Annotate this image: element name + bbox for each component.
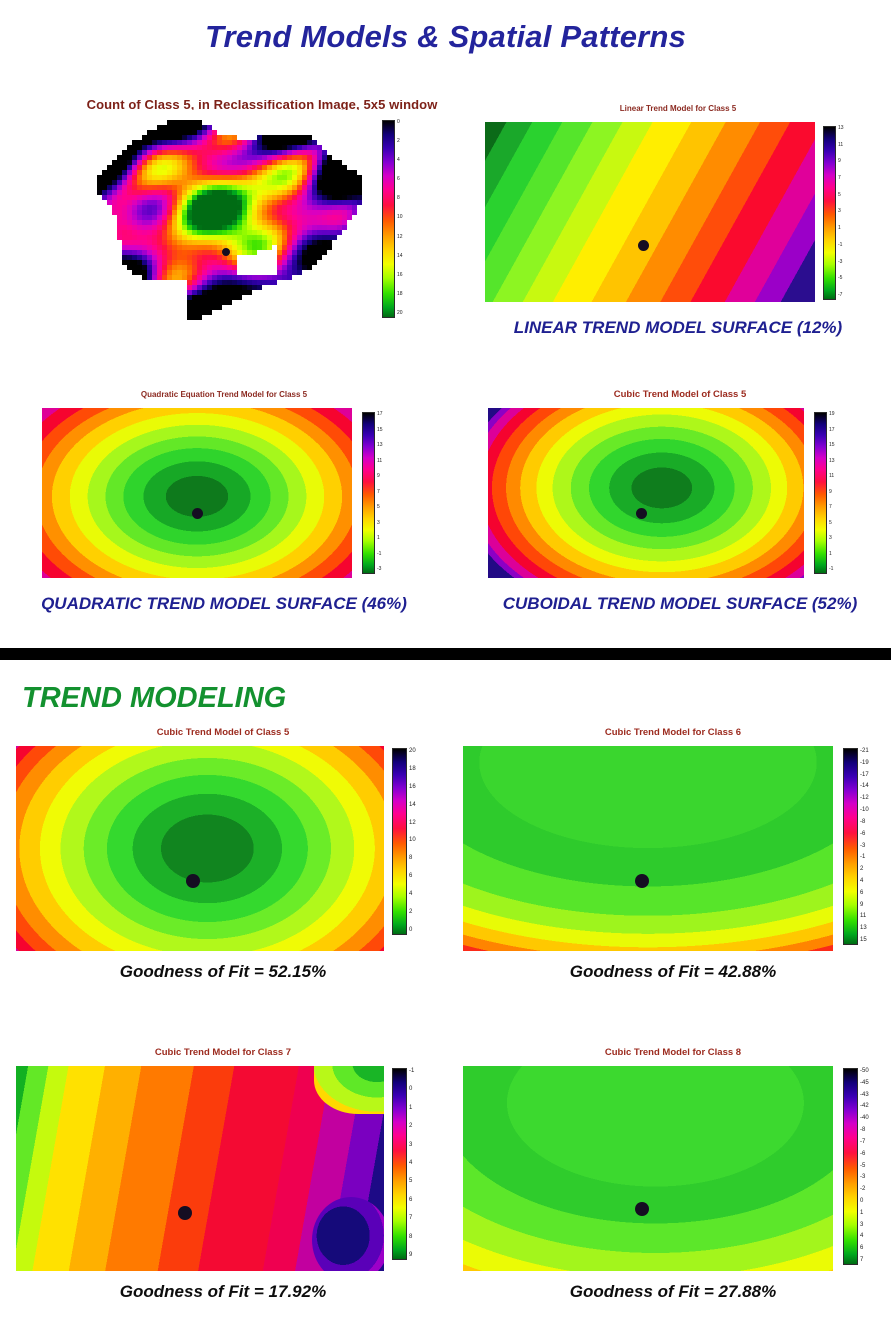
- colorbar-ticks-count-class5: 02468101214161820: [395, 120, 403, 316]
- panel-cubic-class5: Cubic Trend Model of Class 5 20181614121…: [8, 728, 438, 982]
- trend-surface-cubic-class6: [463, 746, 833, 951]
- panel-title-count-class5: Count of Class 5, in Reclassification Im…: [52, 100, 472, 110]
- surface-linear-trend: 131197531-1-3-5-7: [478, 116, 878, 311]
- colorbar-tick: 6: [409, 1197, 414, 1203]
- colorbar-tick: 5: [829, 521, 835, 526]
- colorbar-tick: 4: [860, 878, 869, 884]
- colorbar-tick: 5: [838, 193, 844, 198]
- colorbar-tick: 0: [397, 120, 403, 125]
- surface-quadratic-trend: 1715131197531-1-3: [14, 402, 434, 587]
- colorbar-tick: -12: [860, 795, 869, 801]
- colorbar-linear-trend: 131197531-1-3-5-7: [823, 126, 844, 298]
- colorbar-ticks-cubic-class6: -21-19-17-14-12-10-8-6-3-12469111315: [858, 748, 869, 943]
- colorbar-tick: 16: [397, 273, 403, 278]
- colorbar-tick: -2: [860, 1186, 869, 1192]
- slide-trend-models: Trend Models & Spatial Patterns Count of…: [0, 0, 891, 648]
- colorbar-tick: -7: [860, 1139, 869, 1145]
- sample-point-marker: [635, 1202, 649, 1216]
- colorbar-tick: 15: [829, 443, 835, 448]
- colorbar-tick: 7: [838, 176, 844, 181]
- colorbar-ticks-cubic-class8: -50-45-43-42-40-8-7-6-5-3-2013467: [858, 1068, 869, 1263]
- section-title: TREND MODELING: [0, 660, 891, 715]
- colorbar-tick: 17: [377, 412, 383, 417]
- colorbar-tick: 1: [860, 1210, 869, 1216]
- colorbar-tick: -1: [377, 552, 383, 557]
- trend-surface-quadratic: [42, 408, 352, 578]
- colorbar-tick: 11: [829, 474, 835, 479]
- surface-high-lobe: [314, 1066, 384, 1114]
- colorbar-cuboidal-trend: 191715131197531-1: [814, 412, 835, 572]
- colorbar-ticks-quadratic-trend: 1715131197531-1-3: [375, 412, 383, 572]
- colorbar-tick: 10: [397, 215, 403, 220]
- panel-quadratic-trend: Quadratic Equation Trend Model for Class…: [14, 390, 434, 614]
- colorbar-tick: -21: [860, 748, 869, 754]
- colorbar-tick: 7: [377, 490, 383, 495]
- colorbar-tick: 3: [838, 209, 844, 214]
- colorbar-tick: 14: [397, 254, 403, 259]
- panel-title-cuboidal-trend: Cubic Trend Model of Class 5: [470, 390, 890, 400]
- colorbar-strip: [843, 748, 858, 945]
- caption-quadratic-trend: QUADRATIC TREND MODEL SURFACE (46%): [14, 594, 434, 614]
- trend-surface-linear: [485, 122, 815, 302]
- colorbar-cubic-class5: 20181614121086420: [392, 748, 416, 933]
- colorbar-tick: 15: [377, 428, 383, 433]
- colorbar-tick: -3: [838, 260, 844, 265]
- colorbar-tick: -8: [860, 819, 869, 825]
- surface-low-lobe: [312, 1197, 384, 1271]
- colorbar-tick: 1: [829, 552, 835, 557]
- colorbar-ticks-cubic-class5: 20181614121086420: [407, 748, 416, 933]
- colorbar-tick: 6: [409, 873, 416, 879]
- surface-cubic-class7: -10123456789: [8, 1060, 438, 1275]
- colorbar-cubic-class8: -50-45-43-42-40-8-7-6-5-3-2013467: [843, 1068, 869, 1263]
- colorbar-tick: 12: [397, 235, 403, 240]
- sample-point-marker: [635, 874, 649, 888]
- panel-title-linear-trend: Linear Trend Model for Class 5: [478, 104, 878, 114]
- colorbar-tick: 2: [409, 909, 416, 915]
- colorbar-tick: -40: [860, 1115, 869, 1121]
- colorbar-ticks-linear-trend: 131197531-1-3-5-7: [836, 126, 844, 298]
- colorbar-tick: 3: [829, 536, 835, 541]
- colorbar-tick: 14: [409, 802, 416, 808]
- panel-title-cubic-class6: Cubic Trend Model for Class 6: [455, 728, 891, 738]
- colorbar-tick: 6: [860, 1245, 869, 1251]
- colorbar-tick: 20: [409, 748, 416, 754]
- colorbar-tick: 13: [860, 925, 869, 931]
- colorbar-tick: -50: [860, 1068, 869, 1074]
- colorbar-tick: 16: [409, 784, 416, 790]
- colorbar-ticks-cubic-class7: -10123456789: [407, 1068, 414, 1258]
- colorbar-tick: 1: [838, 226, 844, 231]
- colorbar-tick: 0: [860, 1198, 869, 1204]
- surface-count-class5: 02468101214161820: [52, 112, 472, 322]
- colorbar-count-class5: 02468101214161820: [382, 120, 403, 316]
- colorbar-tick: 8: [409, 855, 416, 861]
- colorbar-tick: -1: [838, 243, 844, 248]
- panel-title-cubic-class5: Cubic Trend Model of Class 5: [8, 728, 438, 738]
- sample-point-marker: [192, 508, 203, 519]
- colorbar-strip: [392, 748, 407, 935]
- colorbar-tick: 11: [377, 459, 383, 464]
- colorbar-tick: 9: [377, 474, 383, 479]
- sample-point-marker: [186, 874, 200, 888]
- colorbar-tick: 9: [829, 490, 835, 495]
- colorbar-tick: -10: [860, 807, 869, 813]
- colorbar-tick: -1: [829, 567, 835, 572]
- caption-cuboidal-trend: CUBOIDAL TREND MODEL SURFACE (52%): [470, 594, 890, 614]
- colorbar-tick: 18: [397, 292, 403, 297]
- colorbar-tick: 8: [409, 1234, 414, 1240]
- colorbar-tick: -43: [860, 1092, 869, 1098]
- caption-cubic-class7: Goodness of Fit = 17.92%: [8, 1282, 438, 1302]
- page-title: Trend Models & Spatial Patterns: [0, 0, 891, 55]
- colorbar-tick: 9: [838, 159, 844, 164]
- colorbar-tick: 9: [860, 902, 869, 908]
- colorbar-tick: 19: [829, 412, 835, 417]
- caption-cubic-class5: Goodness of Fit = 52.15%: [8, 962, 438, 982]
- colorbar-tick: 11: [838, 143, 844, 148]
- trend-surface-cubic-class7: [16, 1066, 384, 1271]
- colorbar-tick: 1: [377, 536, 383, 541]
- colorbar-tick: 1: [409, 1105, 414, 1111]
- colorbar-tick: -6: [860, 1151, 869, 1157]
- colorbar-tick: -3: [860, 1174, 869, 1180]
- colorbar-tick: 2: [409, 1123, 414, 1129]
- colorbar-tick: -1: [409, 1068, 414, 1074]
- colorbar-tick: -3: [377, 567, 383, 572]
- colorbar-tick: -3: [860, 843, 869, 849]
- surface-cubic-class6: -21-19-17-14-12-10-8-6-3-12469111315: [455, 740, 891, 955]
- colorbar-tick: -7: [838, 293, 844, 298]
- sample-point-marker: [178, 1206, 192, 1220]
- colorbar-tick: 3: [409, 1142, 414, 1148]
- colorbar-tick: 10: [409, 837, 416, 843]
- raster-map-count-class5: [82, 120, 362, 320]
- slide-trend-modeling: TREND MODELING Cubic Trend Model of Clas…: [0, 660, 891, 1335]
- colorbar-tick: -5: [860, 1163, 869, 1169]
- panel-cubic-class6: Cubic Trend Model for Class 6 -21-19-17-…: [455, 728, 891, 982]
- colorbar-cubic-class6: -21-19-17-14-12-10-8-6-3-12469111315: [843, 748, 869, 943]
- colorbar-tick: 0: [409, 927, 416, 933]
- colorbar-tick: -6: [860, 831, 869, 837]
- colorbar-tick: -5: [838, 276, 844, 281]
- panel-count-class5: Count of Class 5, in Reclassification Im…: [52, 100, 472, 322]
- colorbar-tick: 17: [829, 428, 835, 433]
- colorbar-tick: 5: [377, 505, 383, 510]
- colorbar-tick: 4: [409, 891, 416, 897]
- surface-cubic-class5: 20181614121086420: [8, 740, 438, 955]
- colorbar-tick: 7: [860, 1257, 869, 1263]
- panel-cubic-class8: Cubic Trend Model for Class 8 -50-45-43-…: [455, 1048, 891, 1302]
- panel-linear-trend: Linear Trend Model for Class 5 131197531…: [478, 104, 878, 338]
- colorbar-tick: -42: [860, 1103, 869, 1109]
- colorbar-tick: 8: [397, 196, 403, 201]
- colorbar-tick: 13: [377, 443, 383, 448]
- colorbar-strip: [823, 126, 836, 300]
- colorbar-tick: 4: [409, 1160, 414, 1166]
- trend-surface-cubic-class5: [16, 746, 384, 951]
- colorbar-strip: [392, 1068, 407, 1260]
- colorbar-tick: 3: [377, 521, 383, 526]
- colorbar-tick: -19: [860, 760, 869, 766]
- sample-point-marker: [222, 248, 230, 256]
- colorbar-tick: -17: [860, 772, 869, 778]
- colorbar-tick: 5: [409, 1178, 414, 1184]
- surface-cubic-class8: -50-45-43-42-40-8-7-6-5-3-2013467: [455, 1060, 891, 1275]
- caption-cubic-class6: Goodness of Fit = 42.88%: [455, 962, 891, 982]
- colorbar-strip: [814, 412, 827, 574]
- panel-cuboidal-trend: Cubic Trend Model of Class 5 19171513119…: [470, 390, 890, 614]
- caption-linear-trend: LINEAR TREND MODEL SURFACE (12%): [478, 318, 878, 338]
- panel-title-quadratic-trend: Quadratic Equation Trend Model for Class…: [14, 390, 434, 400]
- colorbar-cubic-class7: -10123456789: [392, 1068, 414, 1258]
- colorbar-strip: [382, 120, 395, 318]
- colorbar-tick: 7: [409, 1215, 414, 1221]
- colorbar-tick: -8: [860, 1127, 869, 1133]
- colorbar-tick: 6: [860, 890, 869, 896]
- colorbar-tick: 20: [397, 311, 403, 316]
- colorbar-tick: 2: [397, 139, 403, 144]
- colorbar-tick: 6: [397, 177, 403, 182]
- trend-surface-cubic-class8: [463, 1066, 833, 1271]
- colorbar-strip: [843, 1068, 858, 1265]
- colorbar-tick: 4: [860, 1233, 869, 1239]
- colorbar-tick: -45: [860, 1080, 869, 1086]
- colorbar-tick: 12: [409, 820, 416, 826]
- colorbar-tick: -14: [860, 783, 869, 789]
- panel-title-cubic-class8: Cubic Trend Model for Class 8: [455, 1048, 891, 1058]
- trend-surface-cuboidal: [488, 408, 804, 578]
- colorbar-tick: 13: [838, 126, 844, 131]
- colorbar-tick: 3: [860, 1222, 869, 1228]
- colorbar-tick: 4: [397, 158, 403, 163]
- colorbar-quadratic-trend: 1715131197531-1-3: [362, 412, 383, 572]
- colorbar-tick: 18: [409, 766, 416, 772]
- surface-cuboidal-trend: 191715131197531-1: [470, 402, 890, 587]
- colorbar-strip: [362, 412, 375, 574]
- caption-cubic-class8: Goodness of Fit = 27.88%: [455, 1282, 891, 1302]
- sample-point-marker: [636, 508, 647, 519]
- colorbar-tick: 2: [860, 866, 869, 872]
- colorbar-tick: 15: [860, 937, 869, 943]
- panel-cubic-class7: Cubic Trend Model for Class 7 -101234567…: [8, 1048, 438, 1302]
- colorbar-tick: 13: [829, 459, 835, 464]
- colorbar-tick: -1: [860, 854, 869, 860]
- colorbar-ticks-cuboidal-trend: 191715131197531-1: [827, 412, 835, 572]
- colorbar-tick: 9: [409, 1252, 414, 1258]
- sample-point-marker: [638, 240, 649, 251]
- colorbar-tick: 7: [829, 505, 835, 510]
- colorbar-tick: 11: [860, 913, 869, 919]
- colorbar-tick: 0: [409, 1086, 414, 1092]
- panel-title-cubic-class7: Cubic Trend Model for Class 7: [8, 1048, 438, 1058]
